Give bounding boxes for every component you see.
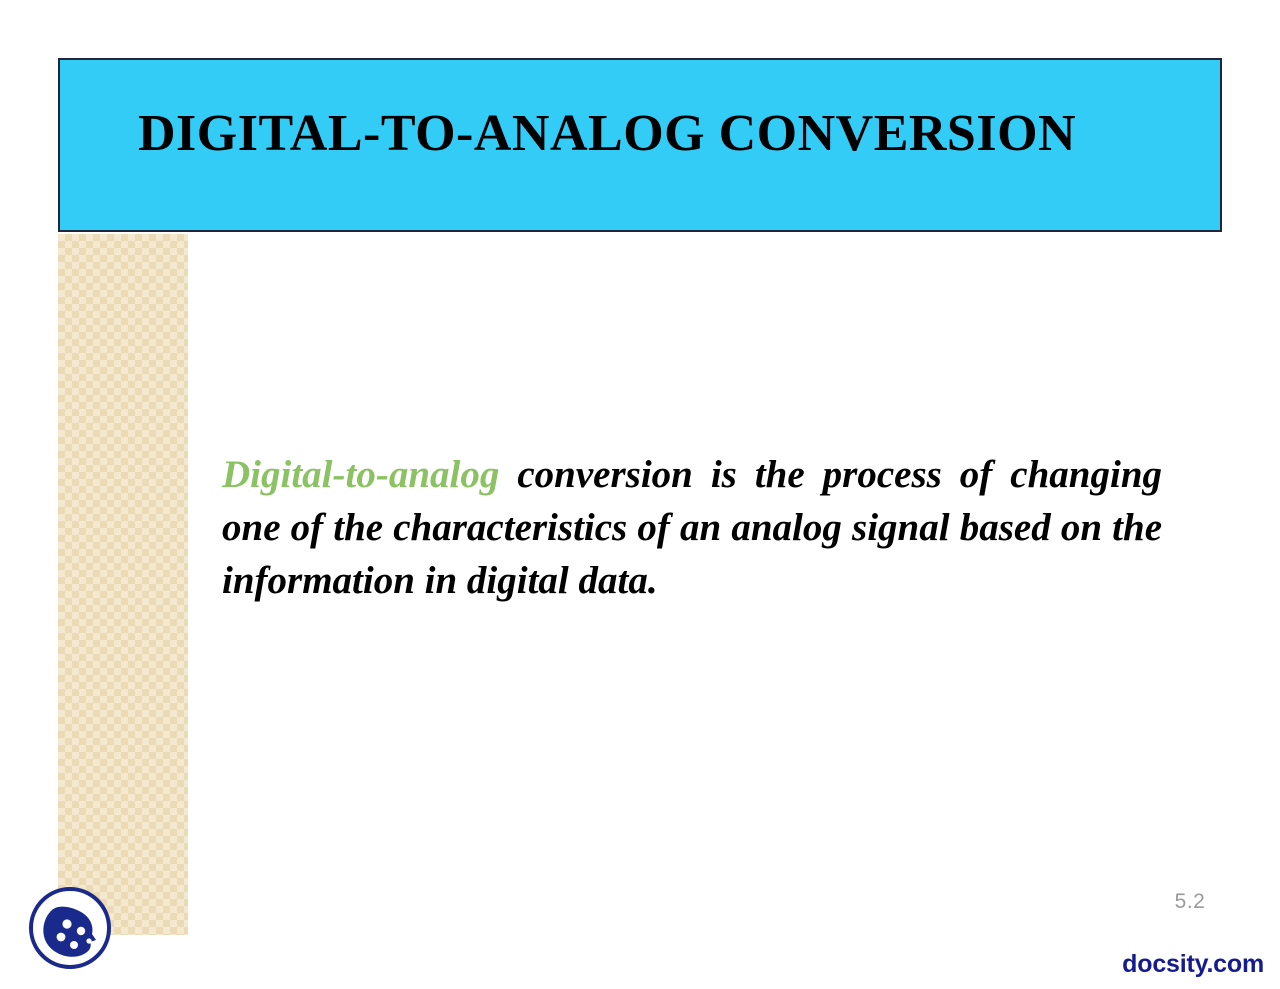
body-text-block: Digital-to-analog conversion is the proc…: [222, 448, 1162, 607]
logo-dot: [86, 938, 91, 943]
logo-dot: [57, 933, 66, 942]
docsity-watermark: docsity.com: [1122, 950, 1264, 979]
highlighted-term: Digital-to-analog: [222, 453, 499, 496]
docsity-logo: [26, 884, 114, 972]
logo-dot: [77, 927, 85, 935]
definition-line-1-rest: conversion is the process of: [517, 453, 992, 496]
slide-title: DIGITAL-TO-ANALOG CONVERSION: [138, 108, 1076, 160]
logo-dot: [70, 941, 78, 949]
title-banner: DIGITAL-TO-ANALOG CONVERSION: [58, 58, 1222, 232]
logo-dot: [62, 919, 71, 928]
page-number: 5.2: [1150, 890, 1230, 914]
definition-paragraph: Digital-to-analog conversion is the proc…: [222, 448, 1162, 607]
decorative-sidebar-texture: [58, 234, 188, 935]
slide-canvas: DIGITAL-TO-ANALOG CONVERSION Digital-to-…: [0, 0, 1280, 989]
